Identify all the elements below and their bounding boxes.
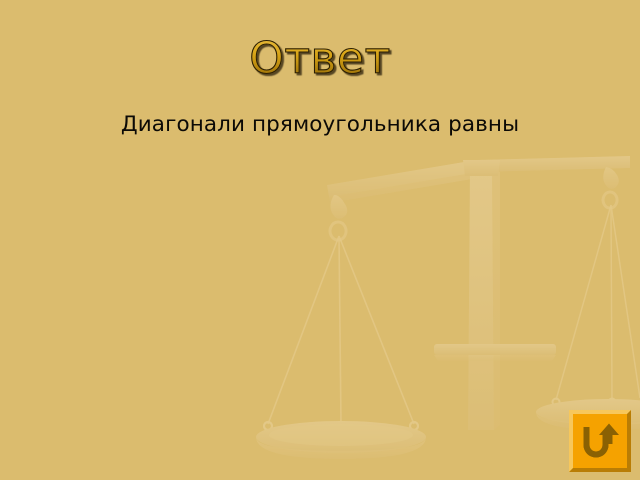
title-container: Ответ bbox=[0, 36, 640, 82]
answer-text: Диагонали прямоугольника равны bbox=[121, 112, 519, 139]
body-container: Диагонали прямоугольника равны bbox=[0, 112, 640, 139]
slide-canvas: Ответ Диагонали прямоугольника равны bbox=[0, 0, 640, 480]
page-title: Ответ bbox=[249, 36, 390, 82]
u-turn-arrow-icon bbox=[573, 414, 627, 468]
return-button[interactable] bbox=[569, 410, 631, 472]
